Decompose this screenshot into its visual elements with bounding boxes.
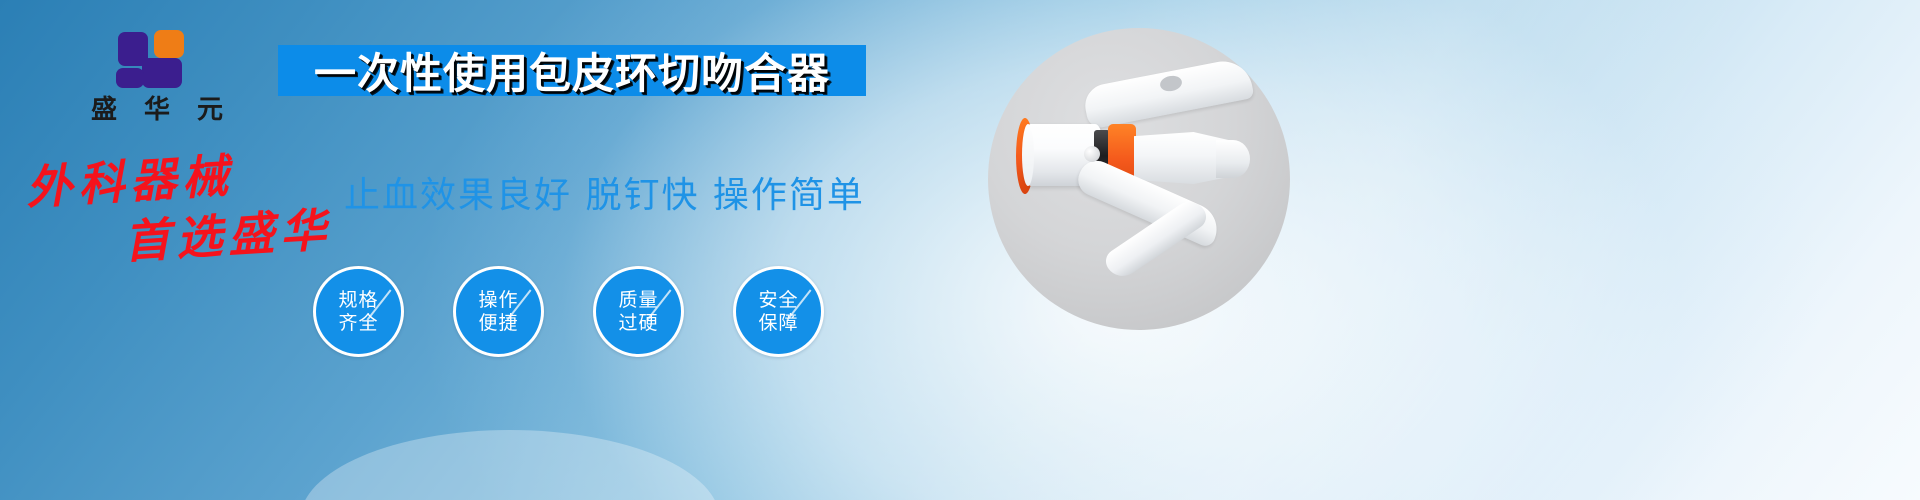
badge-label-line-1: 安全	[758, 289, 798, 312]
badge-label-line-2: 保障	[758, 312, 798, 335]
brand-name: 盛 华 元	[62, 96, 252, 125]
feature-badge-safety[interactable]: 安全 保障	[733, 266, 824, 357]
feature-badge-list: 规格 齐全 操作 便捷 质量 过硬 安全 保障	[313, 266, 824, 357]
feature-badge-operation[interactable]: 操作 便捷	[453, 266, 544, 357]
logo-square-purple-bottom-right	[142, 58, 182, 88]
page-title: 一次性使用包皮环切吻合器	[314, 40, 830, 101]
product-pivot-joint	[1084, 146, 1100, 162]
logo-square-orange-top-right	[154, 30, 184, 58]
badge-label-line-1: 规格	[338, 289, 378, 312]
product-barrel-cap	[1022, 124, 1034, 186]
badge-label-line-2: 齐全	[338, 312, 378, 335]
product-title-band: 一次性使用包皮环切吻合器	[278, 45, 866, 96]
feature-badge-specification[interactable]: 规格 齐全	[313, 266, 404, 357]
badge-label-line-1: 质量	[618, 289, 658, 312]
promo-banner: 盛 华 元 一次性使用包皮环切吻合器 外科器械 首选盛华 止血效果良好 脱钉快 …	[0, 0, 1920, 500]
logo-square-purple-bottom-left	[116, 68, 144, 88]
feature-badge-quality[interactable]: 质量 过硬	[593, 266, 684, 357]
slogan-calligraphy-line-2: 首选盛华	[122, 193, 334, 272]
shenghuayuan-block-logo-icon	[114, 28, 200, 90]
product-cone-tip	[1216, 140, 1250, 178]
badge-label-line-2: 过硬	[618, 312, 658, 335]
product-image	[988, 28, 1290, 330]
product-subtitle: 止血效果良好 脱钉快 操作简单	[344, 166, 865, 218]
brand-logo[interactable]: 盛 华 元	[62, 28, 252, 125]
bottom-arc-decoration	[300, 430, 720, 500]
badge-label-line-1: 操作	[478, 289, 518, 312]
badge-label-line-2: 便捷	[478, 312, 518, 335]
